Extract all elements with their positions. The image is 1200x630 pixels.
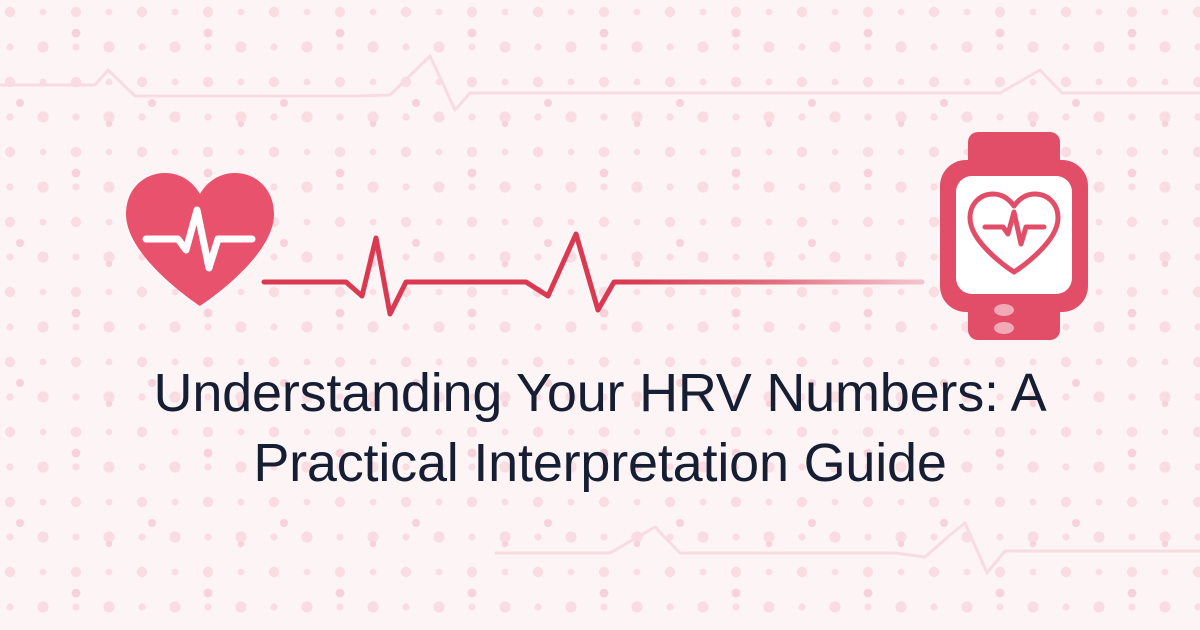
page-title: Understanding Your HRV Numbers: A Practi… — [70, 358, 1130, 498]
og-card: Understanding Your HRV Numbers: A Practi… — [0, 0, 1200, 630]
ecg-pulse-line-icon — [258, 228, 928, 324]
smartwatch-heart-rate-icon — [940, 132, 1088, 340]
title-block: Understanding Your HRV Numbers: A Practi… — [0, 358, 1200, 498]
heart-pulse-icon — [122, 172, 278, 306]
hero-graphics-row — [0, 60, 1200, 290]
